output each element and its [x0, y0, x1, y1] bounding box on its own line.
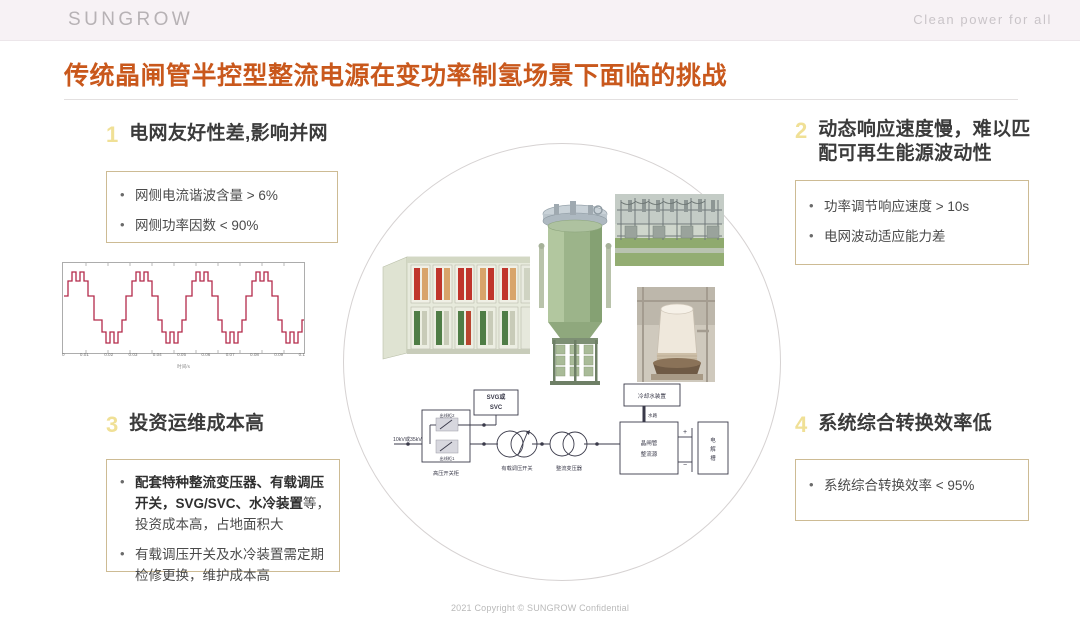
cooling-tower-photo [637, 287, 715, 382]
title-divider [64, 99, 1018, 100]
xtick: 0.09 [274, 352, 283, 357]
bullet-item: 功率调节响应速度 > 10s [804, 197, 1018, 218]
bullet-item: 网侧电流谐波含量 > 6% [115, 186, 327, 207]
schematic-input-label: 10kV或35kV [393, 435, 422, 443]
xtick: 0.01 [80, 352, 89, 357]
bullet-item: 电网波动适应能力差 [804, 227, 1018, 248]
quadrant-2-bullet-box: 功率调节响应速度 > 10s 电网波动适应能力差 [795, 180, 1029, 265]
schematic-dc-plus: + [683, 429, 687, 436]
schematic-electrolyzer-label-1: 电 [710, 436, 716, 444]
system-single-line-diagram: 10kV或35kV 高压开关柜 出线柜2 出线柜1 SVG或 SVC 有载调压开… [392, 382, 732, 497]
quadrant-3-title: 投资运维成本高 [129, 412, 264, 436]
schematic-svg-box-label-2: SVC [490, 405, 503, 411]
sungrow-logo: SUNGROW [68, 9, 193, 31]
xtick: 0.06 [201, 352, 210, 357]
schematic-rectifier-label-2: 整流源 [641, 450, 658, 458]
bullet-item: 有载调压开关及水冷装置需定期检修更换，维护成本高 [115, 545, 331, 587]
quadrant-3-bullet-list: 配套特种整流变压器、有载调压开关，SVG/SVC、水冷装置等，投资成本高，占地面… [115, 473, 331, 587]
quadrant-2-number: 2 [795, 118, 807, 144]
quadrant-1-title: 电网友好性差,影响并网 [129, 122, 328, 146]
bullet-item: 系统综合转换效率 < 95% [804, 476, 1018, 497]
schematic-electrolyzer-label-3: 槽 [710, 454, 716, 462]
quadrant-4-bullet-list: 系统综合转换效率 < 95% [804, 476, 1018, 497]
waveform-x-axis-label: 时间/s [62, 364, 305, 370]
quadrant-1-heading: 1 电网友好性差,影响并网 [106, 122, 356, 148]
waveform-svg [62, 262, 305, 354]
quadrant-2-heading: 2 动态响应速度慢，难以匹配可再生能源波动性 [795, 118, 1045, 167]
xtick: 0.1 [299, 352, 305, 357]
xtick: 0.08 [250, 352, 259, 357]
schematic-rectifier-transformer-label: 整流变压器 [556, 464, 583, 472]
xtick: 0.07 [226, 352, 235, 357]
schematic-rectifier-label-1: 晶闸管 [641, 439, 658, 447]
xtick: 0.04 [153, 352, 162, 357]
quadrant-4-bullet-box: 系统综合转换效率 < 95% [795, 459, 1029, 521]
schematic-switchgear-label: 高压开关柜 [433, 469, 459, 477]
schematic-cooling-box-label: 冷却水装置 [638, 392, 666, 400]
slide-title: 传统晶闸管半控型整流电源在变功率制氢场景下面临的挑战 [64, 56, 727, 92]
schematic-oltc-label: 有载调压开关 [501, 464, 532, 472]
slide-root: SUNGROW Clean power for all 传统晶闸管半控型整流电源… [0, 0, 1080, 624]
brand-tagline: Clean power for all [913, 12, 1052, 27]
bullet-item: 配套特种整流变压器、有载调压开关，SVG/SVC、水冷装置等，投资成本高，占地面… [115, 473, 331, 536]
rectifier-cabinet-photo [381, 249, 551, 362]
rectifier-transformer-photo [530, 196, 620, 386]
xtick: 0.02 [104, 352, 113, 357]
quadrant-1-bullet-box: 网侧电流谐波含量 > 6% 网侧功率因数 < 90% [106, 171, 338, 243]
schematic-outgoing-line-1-label: 出线柜1 [440, 455, 456, 462]
quadrant-2-bullet-list: 功率调节响应速度 > 10s 电网波动适应能力差 [804, 197, 1018, 248]
bullet-item: 网侧功率因数 < 90% [115, 216, 327, 237]
quadrant-3-heading: 3 投资运维成本高 [106, 412, 356, 438]
quadrant-3-number: 3 [106, 412, 118, 438]
quadrant-4-heading: 4 系统综合转换效率低 [795, 412, 1045, 438]
waveform-x-tick-labels: 0 0.01 0.02 0.03 0.04 0.05 0.06 0.07 0.0… [62, 352, 305, 357]
grid-current-waveform-chart [62, 262, 305, 354]
quadrant-4-title: 系统综合转换效率低 [818, 412, 992, 436]
quadrant-2-title: 动态响应速度慢，难以匹配可再生能源波动性 [818, 118, 1045, 167]
slide-header: SUNGROW Clean power for all [0, 0, 1080, 41]
quadrant-3-bullet-box: 配套特种整流变压器、有载调压开关，SVG/SVC、水冷装置等，投资成本高，占地面… [106, 459, 340, 572]
schematic-dc-minus: − [683, 462, 687, 469]
schematic-electrolyzer-label-2: 解 [710, 445, 716, 453]
schematic-water-path-label: 水路 [648, 412, 658, 419]
quadrant-4-number: 4 [795, 412, 807, 438]
schematic-svg-box-label-1: SVG或 [487, 393, 506, 401]
quadrant-1-bullet-list: 网侧电流谐波含量 > 6% 网侧功率因数 < 90% [115, 186, 327, 237]
bullet-bold-text: 配套特种整流变压器、有载调压开关，SVG/SVC、水冷装置 [135, 475, 324, 511]
slide-footer-copyright: 2021 Copyright © SUNGROW Confidential [0, 603, 1080, 613]
quadrant-1-number: 1 [106, 122, 118, 148]
schematic-outgoing-line-2-label: 出线柜2 [440, 412, 456, 419]
xtick: 0 [62, 352, 65, 357]
xtick: 0.03 [129, 352, 138, 357]
xtick: 0.05 [177, 352, 186, 357]
outdoor-substation-photo [615, 194, 724, 266]
